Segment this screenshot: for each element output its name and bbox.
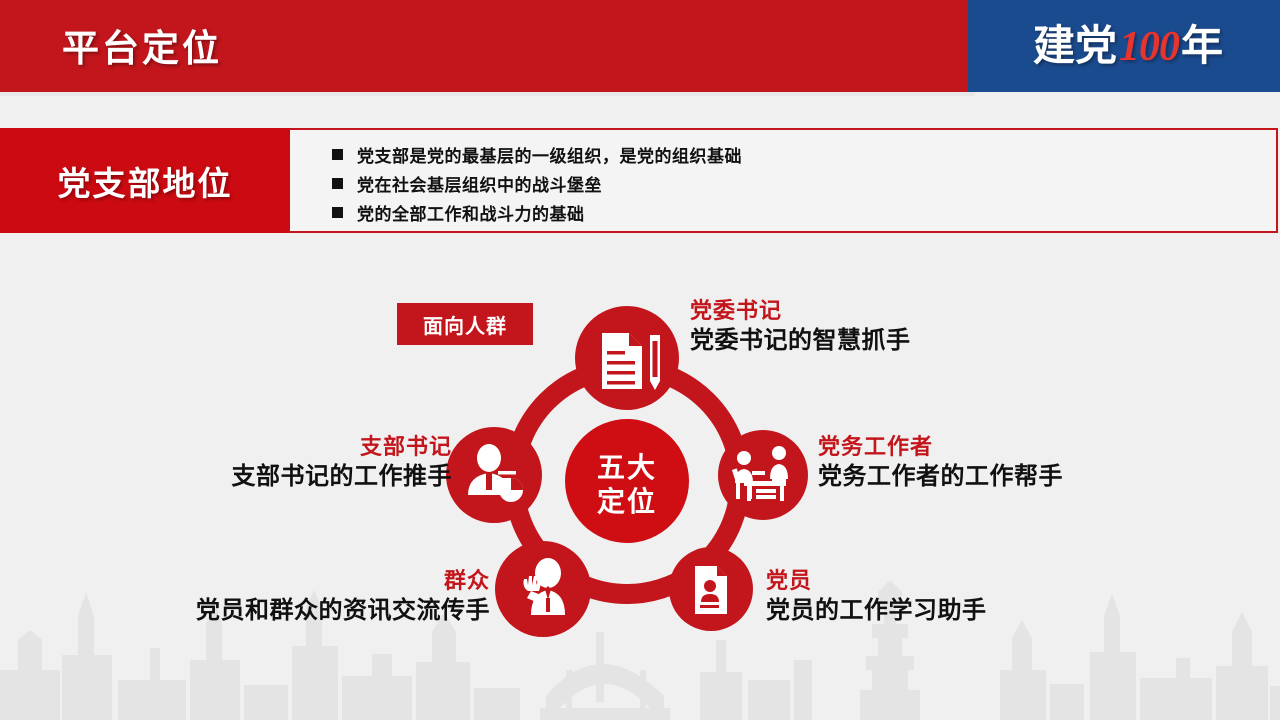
anniversary-badge: 建党100年 <box>988 12 1268 73</box>
page-title: 平台定位 <box>62 18 222 72</box>
node-desc: 党务工作者的工作帮手 <box>818 461 1258 492</box>
node-desc: 支部书记的工作推手 <box>0 461 452 492</box>
list-item: 党支部是党的最基层的一级组织，是党的组织基础 <box>332 140 1232 168</box>
node-label-bottom-left: 群众 党员和群众的资讯交流传手 <box>0 567 490 626</box>
list-item: 党的全部工作和战斗力的基础 <box>332 198 1232 226</box>
slide-header: 平台定位 建党100年 <box>0 0 1280 92</box>
list-item: 党在社会基层组织中的战斗堡垒 <box>332 169 1232 197</box>
square-bullet-icon <box>332 207 343 218</box>
square-bullet-icon <box>332 149 343 160</box>
node-role: 支部书记 <box>0 433 452 461</box>
square-bullet-icon <box>332 178 343 189</box>
id-card-icon <box>695 566 727 614</box>
node-role: 党员 <box>766 567 1206 595</box>
node-label-right: 党务工作者 党务工作者的工作帮手 <box>818 433 1258 492</box>
statement-bullet-list: 党支部是党的最基层的一级组织，是党的组织基础 党在社会基层组织中的战斗堡垒 党的… <box>332 140 1232 227</box>
slide: 平台定位 建党100年 党支部地位 党支部是党的最基层的一级组织，是党的组织基础… <box>0 0 1280 720</box>
node-circle-bottom-left[interactable] <box>495 541 591 637</box>
node-label-bottom-right: 党员 党员的工作学习助手 <box>766 567 1206 626</box>
anniversary-suffix: 年 <box>1181 22 1223 69</box>
bullet-text: 党的全部工作和战斗力的基础 <box>357 200 585 225</box>
five-positioning-diagram: 面向人群 五大 定位 党委书记 党委书记的智慧抓手 党务工作者 党务工作者的工作… <box>0 255 1280 675</box>
node-label-left: 支部书记 支部书记的工作推手 <box>0 433 452 492</box>
center-label-line2: 定位 <box>567 485 687 519</box>
center-label-line1: 五大 <box>567 451 687 485</box>
bullet-text: 党支部是党的最基层的一级组织，是党的组织基础 <box>357 142 742 167</box>
anniversary-number: 100 <box>1117 24 1181 70</box>
node-role: 群众 <box>0 567 490 595</box>
statement-label: 党支部地位 <box>0 128 290 233</box>
node-desc: 党员和群众的资讯交流传手 <box>0 595 490 626</box>
node-role: 党委书记 <box>690 297 1110 325</box>
document-pencil-icon <box>602 333 660 390</box>
node-role: 党务工作者 <box>818 433 1258 461</box>
node-desc: 党员的工作学习助手 <box>766 595 1206 626</box>
node-label-top: 党委书记 党委书记的智慧抓手 <box>690 297 1110 356</box>
header-underline <box>0 92 975 96</box>
audience-badge: 面向人群 <box>397 303 533 345</box>
statement-band: 党支部地位 党支部是党的最基层的一级组织，是党的组织基础 党在社会基层组织中的战… <box>0 128 1278 233</box>
bullet-text: 党在社会基层组织中的战斗堡垒 <box>357 171 602 196</box>
center-label: 五大 定位 <box>567 451 687 519</box>
anniversary-prefix: 建党 <box>1033 22 1117 69</box>
node-desc: 党委书记的智慧抓手 <box>690 325 1110 356</box>
